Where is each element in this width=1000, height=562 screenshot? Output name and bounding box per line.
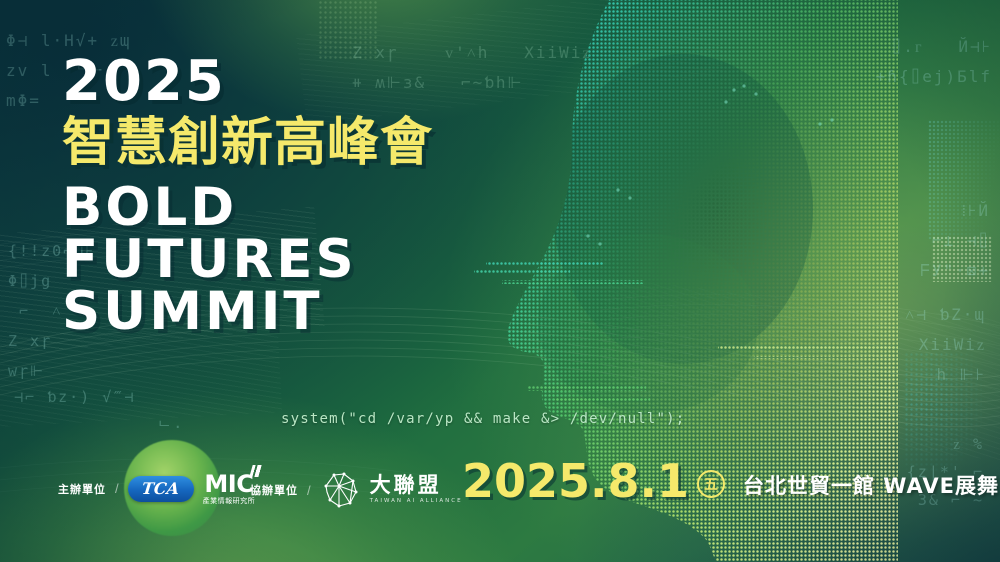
dot-noise-right-mid — [932, 236, 992, 282]
organizer-separator: / — [115, 481, 119, 496]
alliance-logo: 大聯盟 TAIWAN AI ALLIANCE — [320, 470, 463, 510]
alliance-name-english: TAIWAN AI ALLIANCE — [370, 499, 463, 505]
glitch-text-right-mid: ˄⊣ ƅZ·ɰ XiiWiᴢ h ⊩⊦ — [905, 300, 986, 390]
organizer-group: 主辦單位 / TCA MIC 產業情報研究所 — [58, 472, 255, 505]
event-date: 2025.8.1 — [462, 458, 689, 504]
mic-logo-text: MIC — [204, 470, 253, 498]
glitch-text-left-bottom: ⊣⌐ ƅz·) √‴⊣ ᄂ· — [14, 382, 184, 442]
alliance-fish-icon — [320, 470, 364, 510]
tca-logo: TCA — [128, 476, 194, 502]
mic-logo-subtitle: 產業情報研究所 — [203, 498, 256, 505]
date-venue-block: 2025.8.1 五 台北世貿一館 WAVE展舞台 — [462, 458, 1000, 504]
decorative-code-line: system("cd /var/yp && make &> /dev/null"… — [281, 411, 685, 427]
mic-logo: MIC 產業情報研究所 — [203, 472, 256, 505]
organizer-label: 主辦單位 — [58, 481, 106, 497]
event-title-chinese: 智慧創新高峰會 — [62, 116, 433, 170]
event-year: 2025 — [62, 54, 433, 110]
title-line-2: FUTURES — [62, 234, 433, 286]
day-of-week-badge: 五 — [697, 470, 725, 498]
event-venue: 台北世貿一館 WAVE展舞台 — [743, 470, 1000, 500]
tca-logo-text: TCA — [141, 479, 180, 498]
event-title-english: BOLD FUTURES SUMMIT — [62, 182, 433, 338]
headline-block: 2025 智慧創新高峰會 BOLD FUTURES SUMMIT — [62, 54, 433, 338]
coorganizer-label: 協辦單位 — [250, 482, 298, 498]
coorganizer-separator: / — [307, 483, 311, 498]
coorganizer-group: 協辦單位 / — [250, 470, 463, 510]
title-line-1: BOLD — [62, 182, 433, 234]
alliance-name-chinese: 大聯盟 — [370, 475, 463, 496]
mic-logo-mark: MIC — [204, 472, 253, 496]
dot-noise-right-low — [904, 352, 982, 472]
poster-footer: 主辦單位 / TCA MIC 產業情報研究所 協辦單位 / — [0, 460, 1000, 520]
title-line-3: SUMMIT — [62, 286, 433, 338]
dot-noise-top-center — [318, 0, 378, 60]
event-poster: Φ⊣ l·H√+ ᴢɰ zv l ᄂ⌐ mΦ= {!!z0⌐⊔⊦ Φ⌷jg ⌐ … — [0, 0, 1000, 562]
glitch-text-right-upper: ⁞⊦Й ⌐⊥ ⊣⌷ ᖴУ"·⊠+ — [920, 196, 990, 286]
dot-noise-right-top — [928, 120, 1000, 240]
alliance-logo-text: 大聯盟 TAIWAN AI ALLIANCE — [370, 475, 463, 505]
